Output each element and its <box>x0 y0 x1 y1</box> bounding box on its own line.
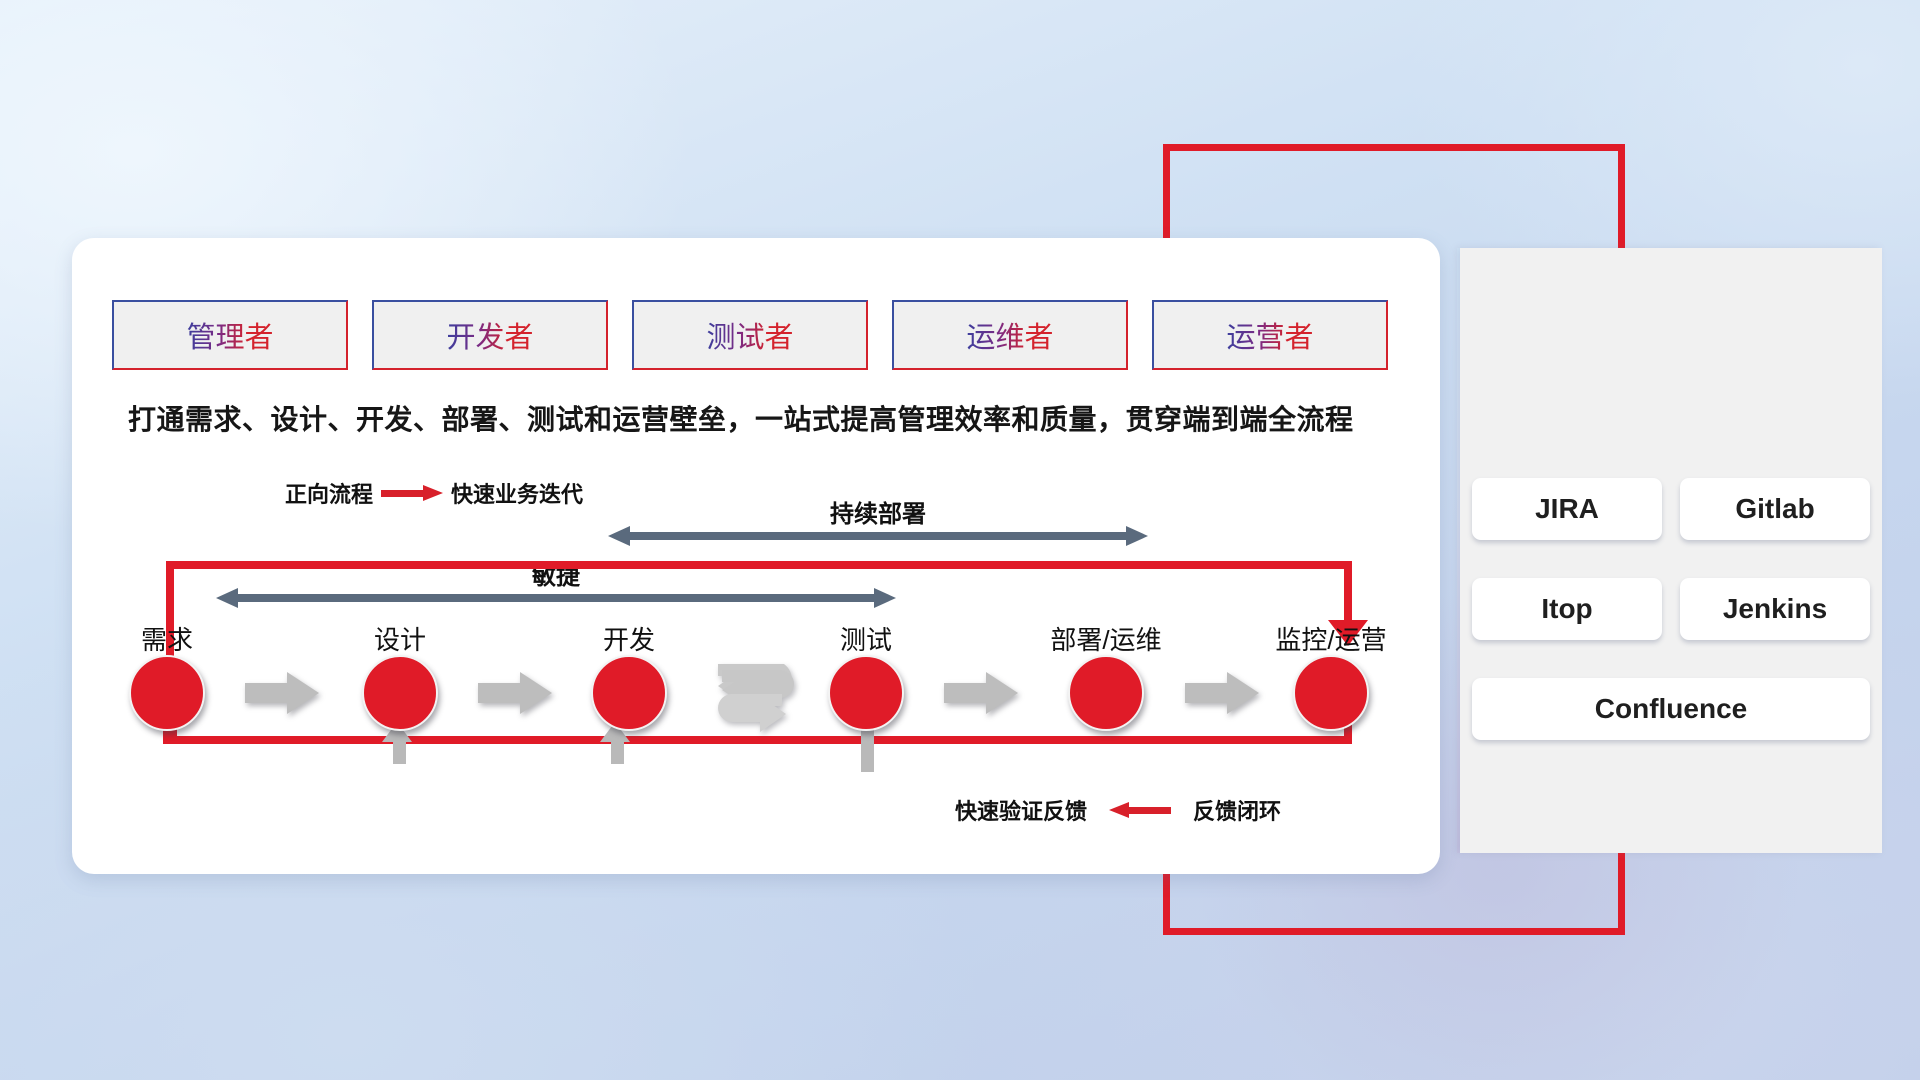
stage-label-design: 设计 <box>374 620 426 657</box>
tool-chip-jira[interactable]: JIRA <box>1472 478 1662 540</box>
role-label: 运维者 <box>966 314 1053 356</box>
legend-feedback-right-label: 反馈闭环 <box>1193 794 1281 826</box>
flow-arrow-icon-2 <box>478 672 552 712</box>
role-label: 测试者 <box>706 314 793 356</box>
iteration-loop-icon <box>714 656 822 738</box>
tool-chip-itop[interactable]: Itop <box>1472 578 1662 640</box>
stage-label-develop: 开发 <box>603 620 655 657</box>
feedback-riser-dev <box>611 740 624 764</box>
red-frame-bottom <box>1163 928 1625 935</box>
legend-forward-flow: 正向流程 快速业务迭代 <box>285 477 583 509</box>
double-arrow-icon-continuous-deploy <box>608 528 1148 544</box>
legend-feedback-loop: 快速验证反馈 反馈闭环 <box>955 794 1281 826</box>
pipeline-loop-right-top <box>1344 561 1352 627</box>
role-box-developer[interactable]: 开发者 <box>372 300 608 370</box>
legend-feedback-left-label: 快速验证反馈 <box>955 794 1087 826</box>
role-box-manager[interactable]: 管理者 <box>112 300 348 370</box>
legend-forward-right-label: 快速业务迭代 <box>451 477 583 509</box>
arrow-right-icon <box>381 487 443 499</box>
stage-circle-monitor-operate <box>1293 655 1369 731</box>
double-arrow-icon-agile <box>216 590 896 606</box>
pipeline-loop-top <box>166 561 1352 569</box>
stage-circle-design <box>362 655 438 731</box>
role-label: 管理者 <box>186 314 273 356</box>
role-box-tester[interactable]: 测试者 <box>632 300 868 370</box>
tool-chip-jenkins[interactable]: Jenkins <box>1680 578 1870 640</box>
continuous-deploy-label: 持续部署 <box>608 494 1148 529</box>
red-frame-top <box>1163 144 1625 151</box>
stage-circle-deploy-ops <box>1068 655 1144 731</box>
feedback-riser-design <box>393 740 406 764</box>
legend-forward-left-label: 正向流程 <box>285 477 373 509</box>
flow-arrow-icon-4 <box>1185 672 1259 712</box>
flow-arrow-icon-1 <box>245 672 319 712</box>
role-box-operator[interactable]: 运营者 <box>1152 300 1388 370</box>
stage-label-monitor-operate: 监控/运营 <box>1275 620 1386 657</box>
card-description: 打通需求、设计、开发、部署、测试和运营壁垒，一站式提高管理效率和质量，贯穿端到端… <box>128 398 1408 438</box>
role-label: 开发者 <box>446 314 533 356</box>
stage-label-test: 测试 <box>840 620 892 657</box>
feedback-riser-test <box>861 726 874 772</box>
role-label: 运营者 <box>1226 314 1313 356</box>
tool-chip-gitlab[interactable]: Gitlab <box>1680 478 1870 540</box>
stage-label-deploy-ops: 部署/运维 <box>1050 620 1161 657</box>
stage-circle-requirement <box>129 655 205 731</box>
flow-arrow-icon-3 <box>944 672 1018 712</box>
arrow-left-icon <box>1109 804 1171 816</box>
role-box-ops[interactable]: 运维者 <box>892 300 1128 370</box>
tool-chip-confluence[interactable]: Confluence <box>1472 678 1870 740</box>
stage-circle-develop <box>591 655 667 731</box>
stage-label-requirement: 需求 <box>141 620 193 657</box>
stage-circle-test <box>828 655 904 731</box>
